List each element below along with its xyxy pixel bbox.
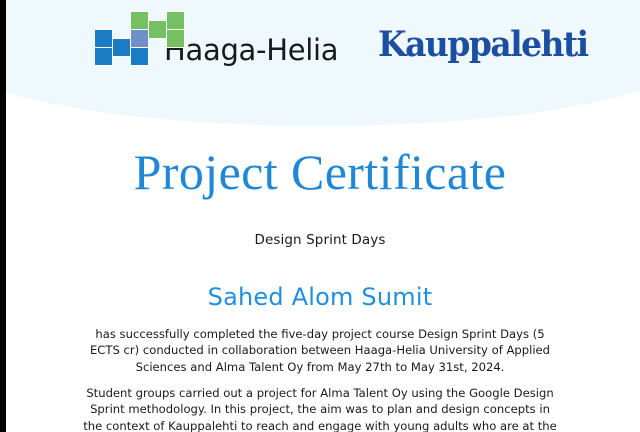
- logo-square-0: [94, 29, 113, 48]
- logo-square-1: [94, 47, 113, 66]
- logo-square-4: [130, 29, 149, 48]
- haaga-helia-logo: Haaga-Helia: [94, 10, 338, 66]
- recipient-name: Sahed Alom Sumit: [0, 283, 640, 311]
- left-edge-strip: [0, 0, 6, 432]
- certificate-page: Haaga-Helia Kauppalehti Project Certific…: [0, 0, 640, 432]
- haaga-helia-logo-mark-icon: [94, 10, 162, 66]
- logo-square-5: [130, 11, 149, 30]
- logo-square-7: [166, 11, 185, 30]
- logo-square-3: [130, 47, 149, 66]
- certificate-paragraph-description: Student groups carried out a project for…: [80, 385, 560, 432]
- certificate-content: Haaga-Helia Kauppalehti Project Certific…: [0, 0, 640, 432]
- logo-square-8: [166, 29, 185, 48]
- course-subtitle: Design Sprint Days: [0, 232, 640, 248]
- kauppalehti-logo: Kauppalehti: [378, 27, 588, 62]
- logo-square-2: [112, 38, 131, 57]
- haaga-helia-wordmark: Haaga-Helia: [164, 36, 338, 65]
- page-title: Project Certificate: [0, 146, 640, 199]
- logo-square-6: [148, 20, 167, 39]
- certificate-header: Haaga-Helia Kauppalehti: [0, 0, 640, 96]
- certificate-paragraph-completion: has successfully completed the five-day …: [80, 326, 560, 375]
